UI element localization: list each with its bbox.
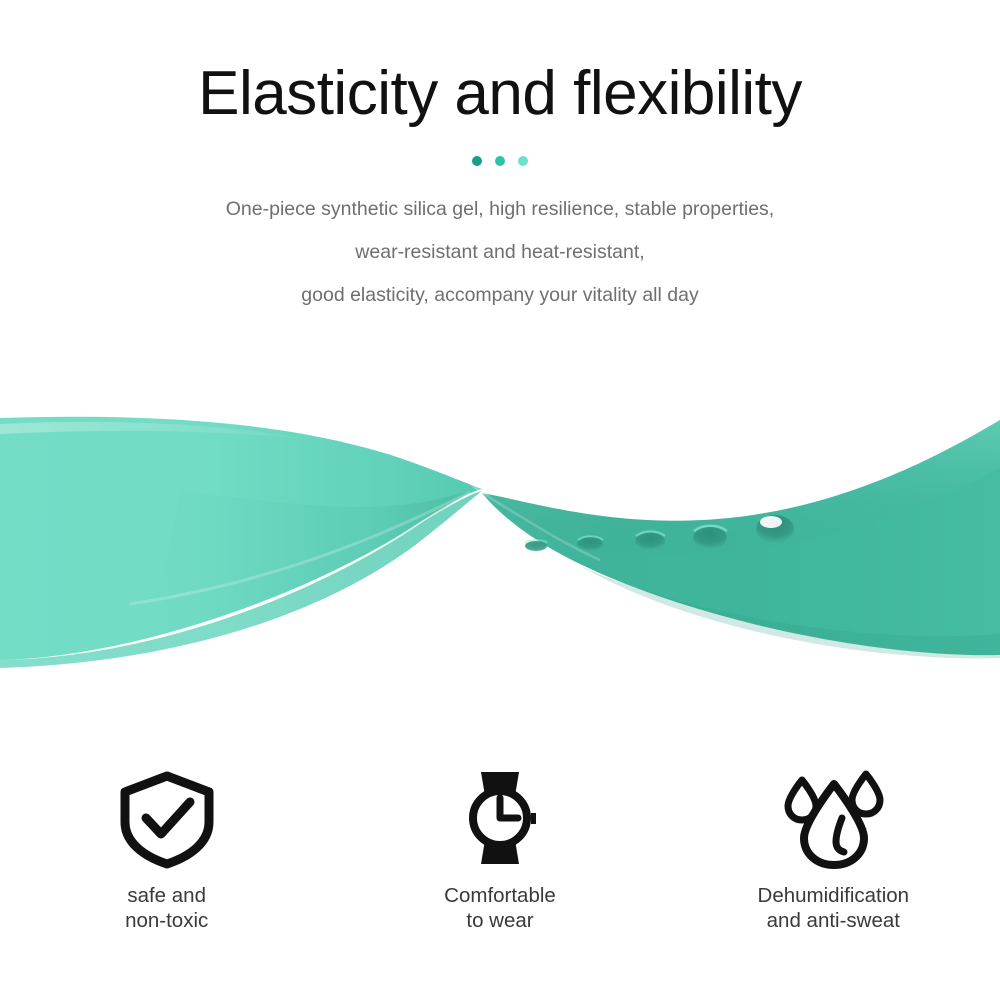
feature-label-comfort: Comfortable to wear (444, 883, 556, 933)
subtitle-line-3: good elasticity, accompany your vitality… (0, 274, 1000, 317)
feature-label-comfort-line2: to wear (444, 908, 556, 933)
feature-label-dehumid: Dehumidification and anti-sweat (758, 883, 910, 933)
feature-row: safe and non-toxic Comfortable to wear (0, 765, 1000, 933)
feature-label-safe-line2: non-toxic (125, 908, 208, 933)
wristwatch-icon (448, 765, 552, 870)
feature-label-comfort-line1: Comfortable (444, 884, 556, 907)
band-hole-4 (693, 527, 727, 549)
product-image (0, 372, 1000, 692)
dot-1 (472, 156, 482, 166)
subtitle-line-1: One-piece synthetic silica gel, high res… (0, 188, 1000, 231)
band-left-lobe (0, 417, 482, 668)
water-drops-icon (778, 765, 888, 870)
subtitle-block: One-piece synthetic silica gel, high res… (0, 188, 1000, 317)
feature-label-dehumid-line1: Dehumidification (758, 884, 910, 907)
shield-check-icon (115, 765, 219, 870)
dot-3 (518, 156, 528, 166)
feature-label-safe: safe and non-toxic (125, 883, 208, 933)
dot-2 (495, 156, 505, 166)
dot-divider (0, 155, 1000, 167)
feature-label-dehumid-line2: and anti-sweat (758, 908, 910, 933)
feature-comfortable-to-wear: Comfortable to wear (333, 765, 666, 933)
feature-safe-non-toxic: safe and non-toxic (0, 765, 333, 933)
product-feature-page: Elasticity and flexibility One-piece syn… (0, 0, 1000, 1000)
page-title: Elasticity and flexibility (0, 63, 1000, 125)
header: Elasticity and flexibility One-piece syn… (0, 0, 1000, 317)
band-hole-1 (525, 541, 547, 551)
feature-label-safe-line1: safe and (127, 884, 206, 907)
band-right-lobe (482, 420, 1000, 658)
feature-dehumidification: Dehumidification and anti-sweat (667, 765, 1000, 933)
subtitle-line-2: wear-resistant and heat-resistant, (0, 231, 1000, 274)
